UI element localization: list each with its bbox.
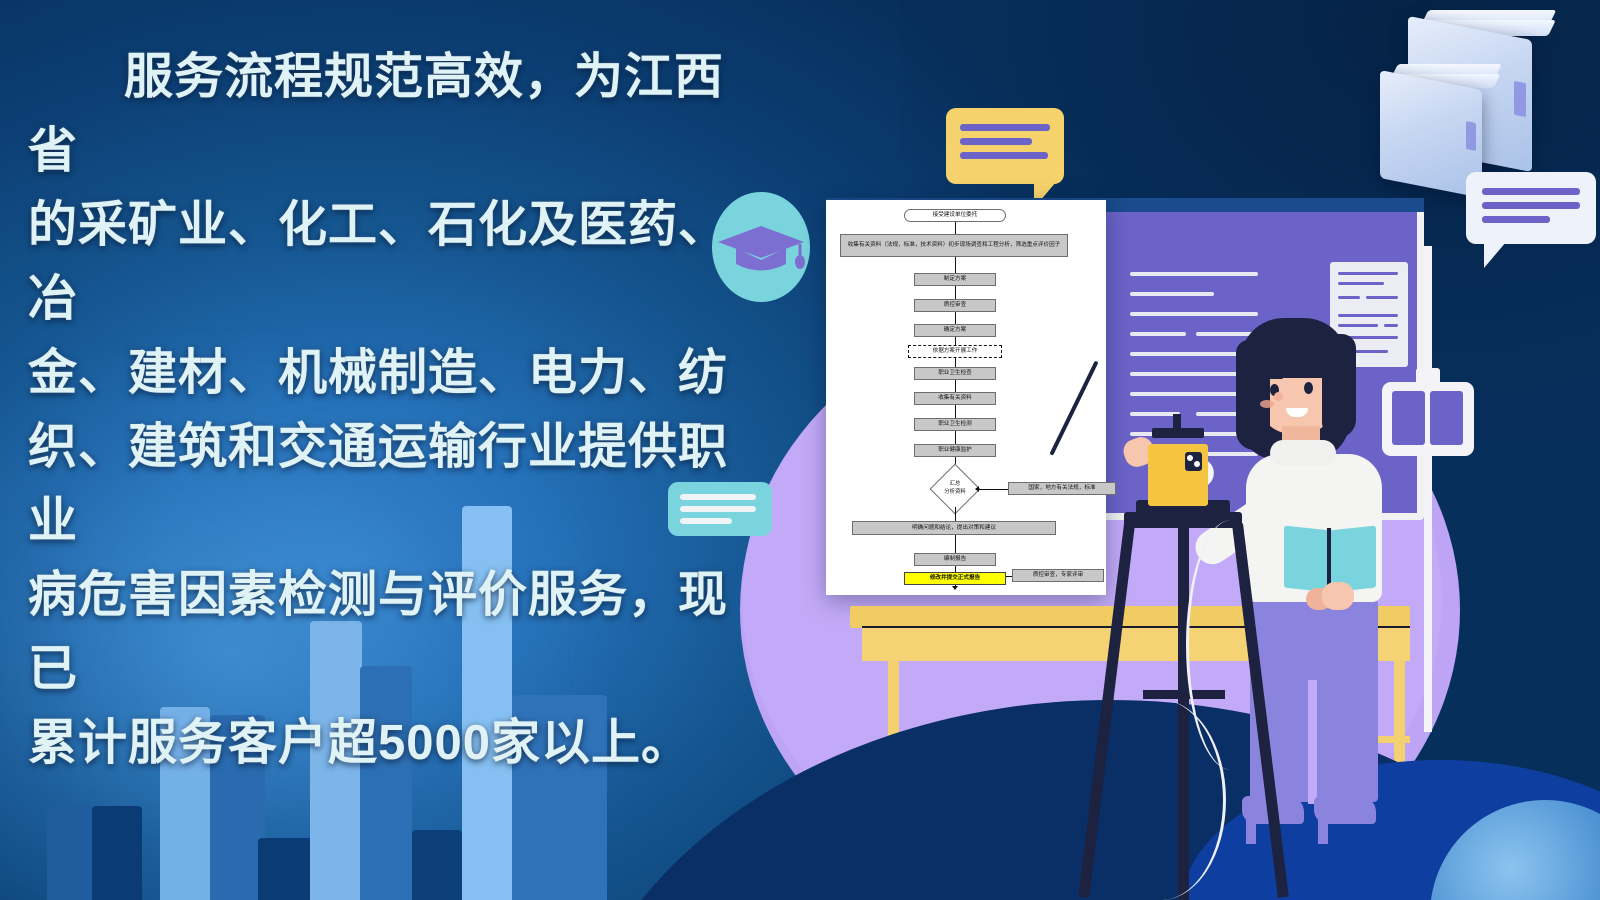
book-pole-lower [1424, 452, 1432, 732]
person-heel-right [1318, 820, 1328, 844]
person-heel-left [1246, 820, 1256, 844]
flow-node-n5: 确定方案 [914, 324, 996, 337]
flow-arrow [955, 312, 956, 324]
instrument-rod [1173, 414, 1181, 434]
flow-arrow [955, 337, 956, 345]
headline-line-1: 服务流程规范高效，为江西省 [28, 40, 768, 188]
headline-line-4: 织、建筑和交通运输行业提供职业 [28, 410, 768, 558]
flow-node-n7: 职业卫生检查 [914, 367, 996, 380]
stacked-books-icon [1386, 6, 1596, 186]
flow-node-n12: 明确问题和结论，提出对策和建议 [852, 521, 1056, 535]
board-line [1130, 332, 1186, 336]
person-leg-gap [1308, 680, 1317, 804]
chart-bar [92, 806, 142, 900]
flow-arrow [955, 431, 956, 444]
headline-line-6: 累计服务客户超5000家以上。 [28, 706, 768, 780]
flow-connector-s1 [976, 489, 1008, 490]
chart-bar [412, 830, 462, 900]
flowchart-document: 接受建设单位委托 收集有关资料（法规，标准，技术资料）初步现场调查和工程分析，筛… [826, 200, 1106, 595]
flow-arrow [955, 507, 956, 521]
person-brow-left [1266, 376, 1283, 379]
book-pole-knob [1416, 368, 1440, 384]
flow-node-n8: 收集有关资料 [914, 392, 996, 405]
person-eye-right [1304, 382, 1313, 394]
person-nose [1274, 392, 1283, 401]
board-line [1130, 272, 1258, 276]
person-hair-front [1240, 318, 1348, 378]
flow-node-n3: 制定方案 [914, 273, 996, 286]
flow-node-n11-line2: 分析资料 [930, 489, 980, 496]
headline-line-5: 病危害因素检测与评价服务，现已 [28, 558, 768, 706]
flow-node-n11-line1: 汇总 [930, 481, 980, 488]
flow-node-n4: 质控审查 [914, 299, 996, 312]
person-book-left-page [1284, 526, 1330, 593]
flow-arrow [955, 286, 956, 299]
flow-node-n2: 收集有关资料（法规，标准，技术资料）初步现场调查和工程分析，筛选重点评价因子 [840, 234, 1068, 257]
person-blush [1260, 400, 1274, 408]
flow-arrow [955, 222, 956, 234]
headline-line-3: 金、建材、机械制造、电力、纺 [28, 336, 768, 410]
flow-arrow [955, 380, 956, 392]
flow-node-n14: 修改并提交正式报告 [904, 572, 1006, 585]
chart-bar [47, 806, 92, 900]
flow-arrow [955, 257, 956, 273]
person-hand-lower [1322, 582, 1354, 610]
board-line [1130, 292, 1214, 296]
chart-bar [258, 838, 315, 900]
yellow-speech-bubble [946, 108, 1064, 184]
flow-node-n6: 依据方案开展工作 [908, 345, 1002, 358]
white-speech-bubble [1466, 172, 1596, 244]
person-brow-right [1300, 374, 1317, 377]
flow-side-node-s1: 国家，地方有关法规，标准 [1008, 482, 1116, 495]
headline-line-2: 的采矿业、化工、石化及医药、冶 [28, 188, 768, 336]
instrument-cable-lower [1096, 700, 1226, 900]
flow-node-n10: 职业健康监护 [914, 444, 996, 457]
flow-node-n9: 职业卫生检测 [914, 418, 996, 431]
book-pole-upper [1424, 246, 1432, 386]
poster-canvas: 接受建设单位委托 收集有关资料（法规，标准，技术资料）初步现场调查和工程分析，筛… [0, 0, 1600, 900]
person-collar [1270, 440, 1336, 466]
instrument-dial [1185, 452, 1202, 471]
flow-node-n1: 接受建设单位委托 [904, 209, 1006, 222]
flow-side-node-s2: 质控审查，专家评审 [1012, 569, 1104, 582]
board-line [1130, 312, 1258, 316]
flow-arrow [955, 535, 956, 553]
flow-arrow [955, 405, 956, 418]
flow-arrow [955, 358, 956, 367]
page-title: 服务流程规范高效，为江西省 的采矿业、化工、石化及医药、冶 金、建材、机械制造、… [28, 40, 768, 780]
flow-node-n13: 编制报告 [914, 553, 996, 566]
